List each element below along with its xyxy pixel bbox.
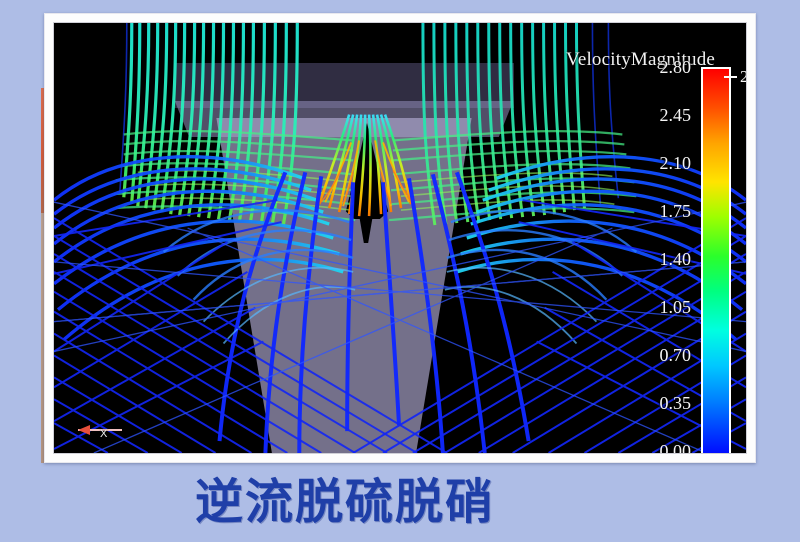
- colorbar-tick-4: 1.40: [660, 249, 692, 270]
- colorbar-tick-2: 2.10: [660, 153, 692, 174]
- colorbar-tick-1: 2.45: [660, 105, 692, 126]
- colorbar-tick-0: 2.80: [660, 57, 692, 78]
- axis-orientation-widget: [64, 419, 124, 441]
- axis-x-label: X: [100, 428, 107, 440]
- figure-viewport: VelocityMagnitude 2.80 2.45 2.10 1.75 1.…: [53, 22, 747, 454]
- cfd-scene: VelocityMagnitude 2.80 2.45 2.10 1.75 1.…: [54, 23, 746, 453]
- colorbar-tick-5: 1.05: [660, 297, 692, 318]
- colorbar-tick-7: 0.35: [660, 393, 692, 414]
- colorbar-max-dash: [724, 76, 737, 78]
- colorbar-tick-8: 0.00: [660, 441, 692, 454]
- colorbar-tick-6: 0.70: [660, 345, 692, 366]
- colorbar-gradient: [701, 67, 731, 454]
- colorbar-max-label: 2.74: [740, 67, 747, 87]
- figure-caption: 逆流脱硫脱硝: [0, 478, 690, 526]
- colorbar-tick-labels: 2.80 2.45 2.10 1.75 1.40 1.05 0.70 0.35 …: [554, 23, 691, 453]
- figure-frame: VelocityMagnitude 2.80 2.45 2.10 1.75 1.…: [44, 13, 756, 463]
- colorbar-tick-3: 1.75: [660, 201, 692, 222]
